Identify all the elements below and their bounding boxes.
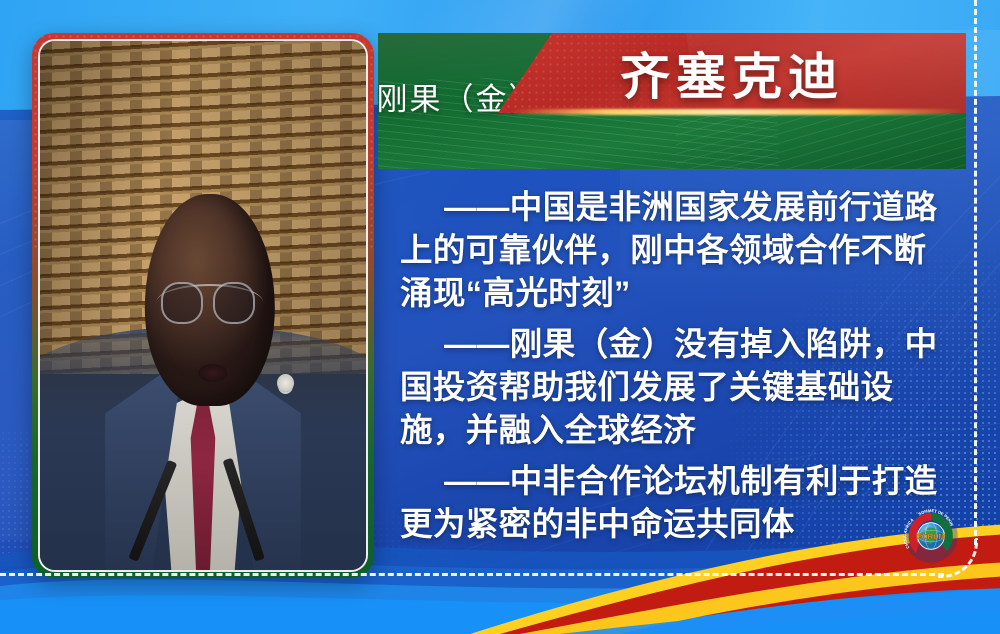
photo-subject-mouth [198,364,227,382]
quote-item-2: ——刚果（金）没有掉入陷阱，中国投资帮助我们发展了关键基础设施，并融入全球经济 [400,323,945,452]
photo-subject-glasses-right [213,282,255,324]
dashed-line-horizontal [0,573,944,576]
dashed-line-vertical [974,0,977,545]
broadcast-lower-third-graphic: 刚果（金）总统齐塞克迪发言照片 刚果（金）总统 齐塞克迪 ——中国是非洲国家发展… [0,0,1000,634]
quote-list: ——中国是非洲国家发展前行道路上的可靠伙伴，刚中各领域合作不断涌现“高光时刻” … [400,186,945,554]
focac-logo-center-text: FORUM [917,532,945,541]
quote-item-1: ——中国是非洲国家发展前行道路上的可靠伙伴，刚中各领域合作不断涌现“高光时刻” [400,186,945,315]
photo-subject-glasses-left [161,282,203,324]
focac-logo-icon: FORUM CHINA-AFRICA SOMMET DE PEKIN [902,507,960,565]
speaker-name: 齐塞克迪 [498,36,966,110]
quote-item-3: ——中非合作论坛机制有利于打造更为紧密的非中命运共同体 [400,460,945,546]
